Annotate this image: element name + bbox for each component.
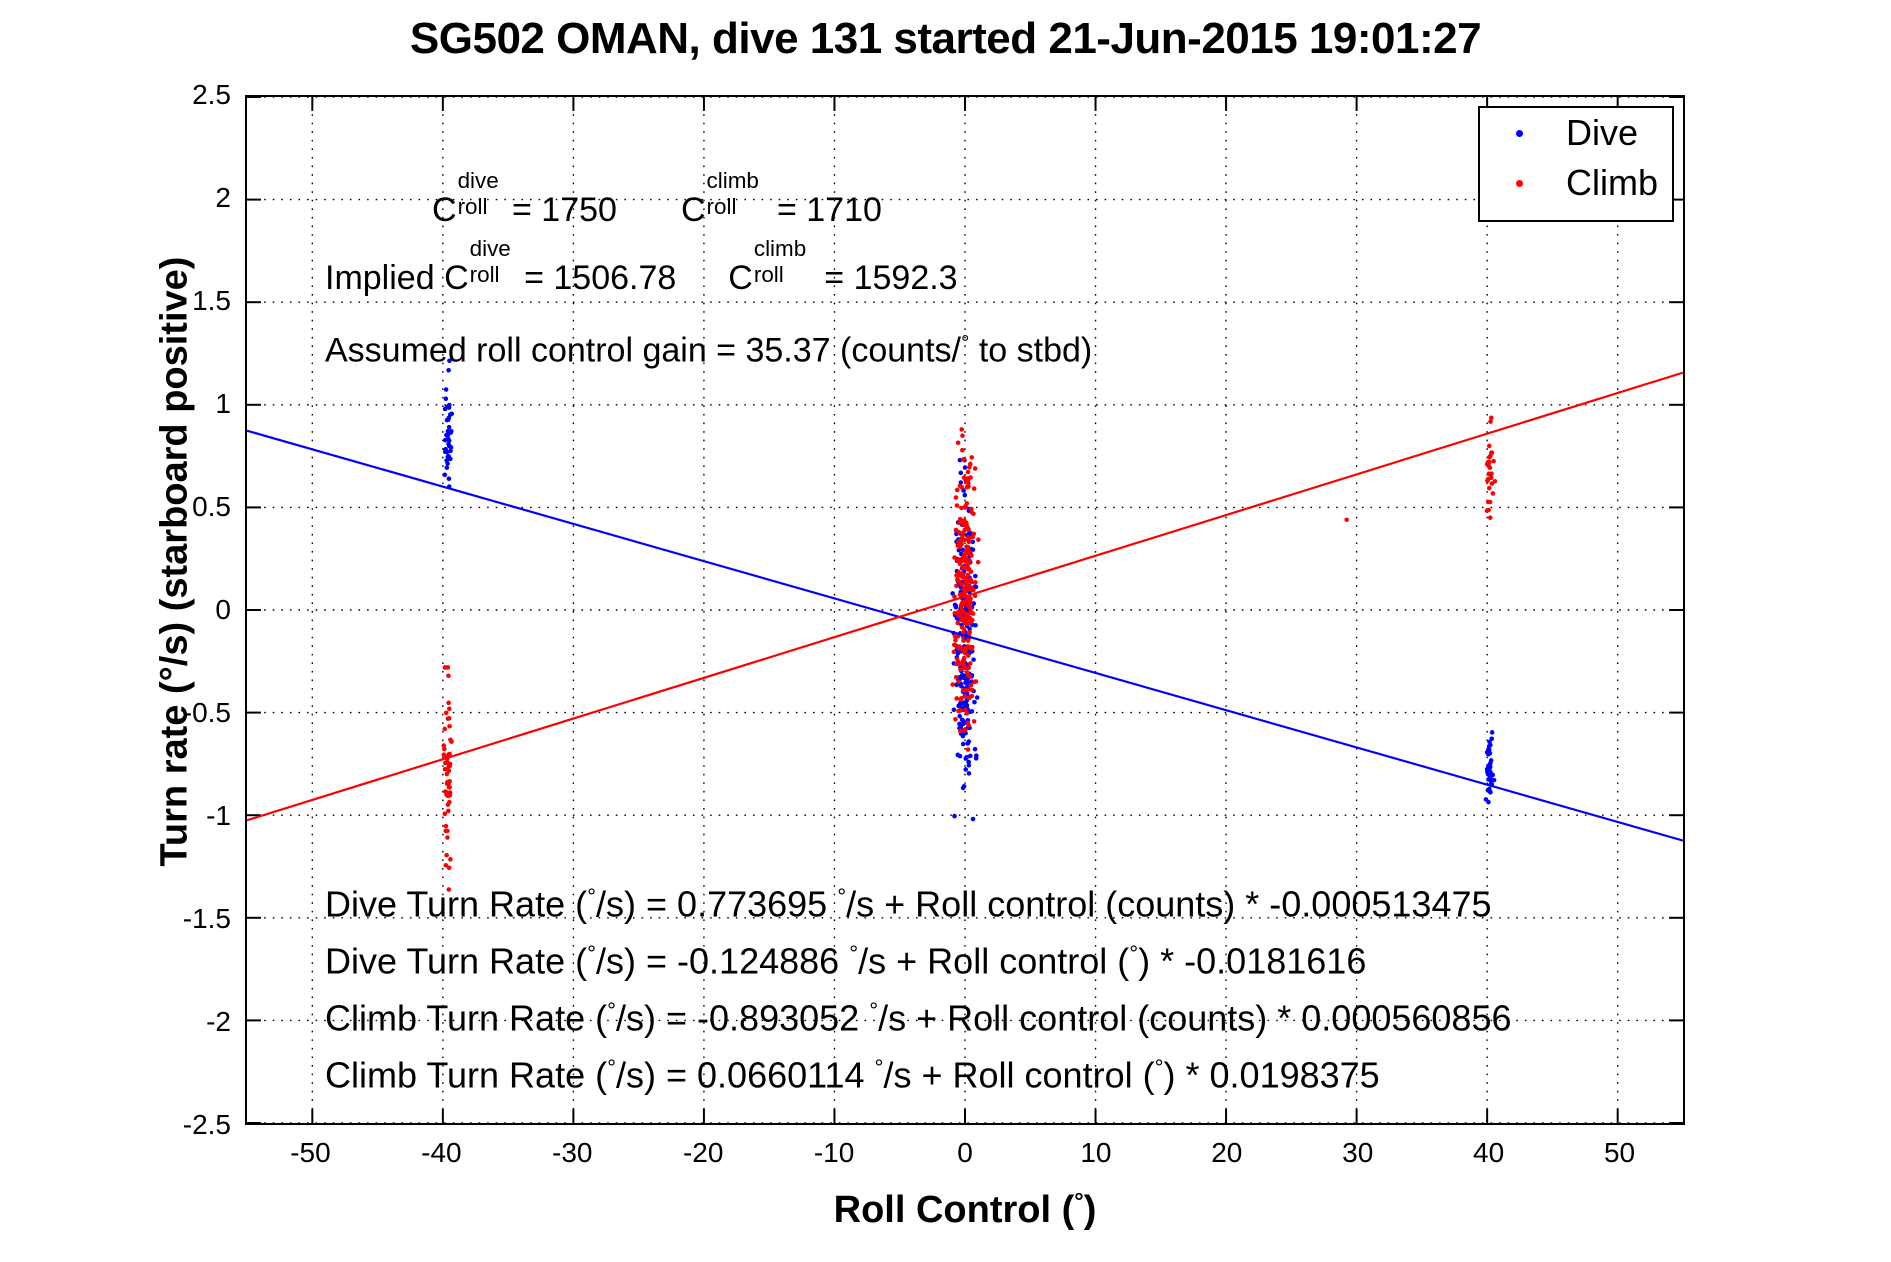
plot-axes-frame: Cdiveroll = 1750Cclimbroll = 1710 Implie… (245, 95, 1685, 1125)
implied-prefix: Implied (325, 259, 444, 297)
x-axis-degree-icon: ° (1074, 1188, 1083, 1214)
x-tick-label: -10 (774, 1139, 894, 1167)
annotation-roll-gain: Assumed roll control gain = 35.37 (count… (325, 333, 1092, 368)
eq0-part3: /s + Roll control (counts) * -0.00051347… (846, 883, 1491, 924)
croll-dive-value: = 1750 (503, 191, 617, 229)
y-tick-label: -2 (141, 1008, 231, 1036)
eq3-deg1: ° (607, 1055, 616, 1080)
x-tick-label: -30 (512, 1139, 632, 1167)
eq2-part3: /s + Roll control (counts) * 0.000560856 (878, 997, 1511, 1038)
x-axis-title-close: ) (1084, 1189, 1097, 1231)
annotation-croll-set: Cdiveroll = 1750Cclimbroll = 1710 (432, 187, 882, 227)
eq2-deg1: ° (607, 998, 616, 1023)
x-tick-label: 0 (905, 1139, 1025, 1167)
x-tick-label: 40 (1429, 1139, 1549, 1167)
croll-dive-symbol: C (432, 191, 457, 229)
legend-label-dive: Dive (1566, 112, 1638, 154)
eq1-part1: Dive Turn Rate ( (325, 940, 587, 981)
legend[interactable]: Dive Climb (1478, 106, 1674, 222)
legend-item-dive[interactable]: Dive (1480, 108, 1672, 158)
equation-dive-counts: Dive Turn Rate (°/s) = 0.773695 °/s + Ro… (325, 886, 1492, 922)
eq3-part1: Climb Turn Rate ( (325, 1054, 607, 1095)
page-title: SG502 OMAN, dive 131 started 21-Jun-2015… (0, 14, 1891, 64)
croll-climb-symbol: C (681, 191, 706, 229)
equation-dive-degrees: Dive Turn Rate (°/s) = -0.124886 °/s + R… (325, 943, 1366, 979)
implied-dive-symbol: C (444, 259, 469, 297)
eq1-deg3: ° (1129, 941, 1138, 966)
y-axis-title: Turn rate (°/s) (starboard positive) (154, 112, 197, 1012)
legend-item-climb[interactable]: Climb (1480, 158, 1672, 208)
implied-climb-symbol: C (728, 259, 753, 297)
eq1-deg1: ° (587, 941, 596, 966)
eq2-part1: Climb Turn Rate ( (325, 997, 607, 1038)
x-tick-label: 20 (1167, 1139, 1287, 1167)
y-tick-label: 2.5 (141, 81, 231, 109)
equation-climb-counts: Climb Turn Rate (°/s) = -0.893052 °/s + … (325, 1000, 1512, 1036)
eq3-part3: /s + Roll control ( (883, 1054, 1154, 1095)
x-tick-label: -20 (643, 1139, 763, 1167)
roll-gain-suffix: to stbd) (969, 332, 1092, 370)
roll-gain-prefix: Assumed roll control gain = 35.37 (count… (325, 332, 961, 370)
eq0-part1: Dive Turn Rate ( (325, 883, 587, 924)
eq1-part4: ) * -0.0181616 (1138, 940, 1366, 981)
x-axis-title: Roll Control (°) (245, 1188, 1685, 1232)
eq1-part2: /s) = -0.124886 (596, 940, 849, 981)
eq3-part4: ) * 0.0198375 (1164, 1054, 1380, 1095)
legend-marker-climb (1516, 180, 1523, 187)
legend-label-climb: Climb (1566, 162, 1658, 204)
y-tick-label: -2.5 (141, 1111, 231, 1139)
x-tick-label: -40 (381, 1139, 501, 1167)
croll-climb-value: = 1710 (768, 191, 882, 229)
plot-root: SG502 OMAN, dive 131 started 21-Jun-2015… (0, 0, 1891, 1262)
eq2-deg2: ° (869, 998, 878, 1023)
implied-climb-value: = 1592.3 (815, 259, 958, 297)
x-tick-label: 30 (1298, 1139, 1418, 1167)
x-axis-title-text: Roll Control ( (834, 1189, 1075, 1231)
eq2-part2: /s) = -0.893052 (616, 997, 869, 1038)
eq3-part2: /s) = 0.0660114 (616, 1054, 875, 1095)
x-tick-label: 50 (1560, 1139, 1680, 1167)
eq0-part2: /s) = 0.773695 (596, 883, 837, 924)
annotation-implied-croll: Implied Cdiveroll = 1506.78Cclimbroll = … (325, 255, 958, 295)
eq3-deg3: ° (1155, 1055, 1164, 1080)
x-tick-label: 10 (1036, 1139, 1156, 1167)
annotation-layer: Cdiveroll = 1750Cclimbroll = 1710 Implie… (247, 97, 1683, 1123)
implied-dive-value: = 1506.78 (515, 259, 677, 297)
eq0-deg2: ° (837, 884, 846, 909)
legend-marker-dive (1516, 130, 1523, 137)
eq1-part3: /s + Roll control ( (858, 940, 1129, 981)
x-tick-label: -50 (250, 1139, 370, 1167)
eq1-deg2: ° (849, 941, 858, 966)
equation-climb-degrees: Climb Turn Rate (°/s) = 0.0660114 °/s + … (325, 1057, 1380, 1093)
eq0-deg1: ° (587, 884, 596, 909)
